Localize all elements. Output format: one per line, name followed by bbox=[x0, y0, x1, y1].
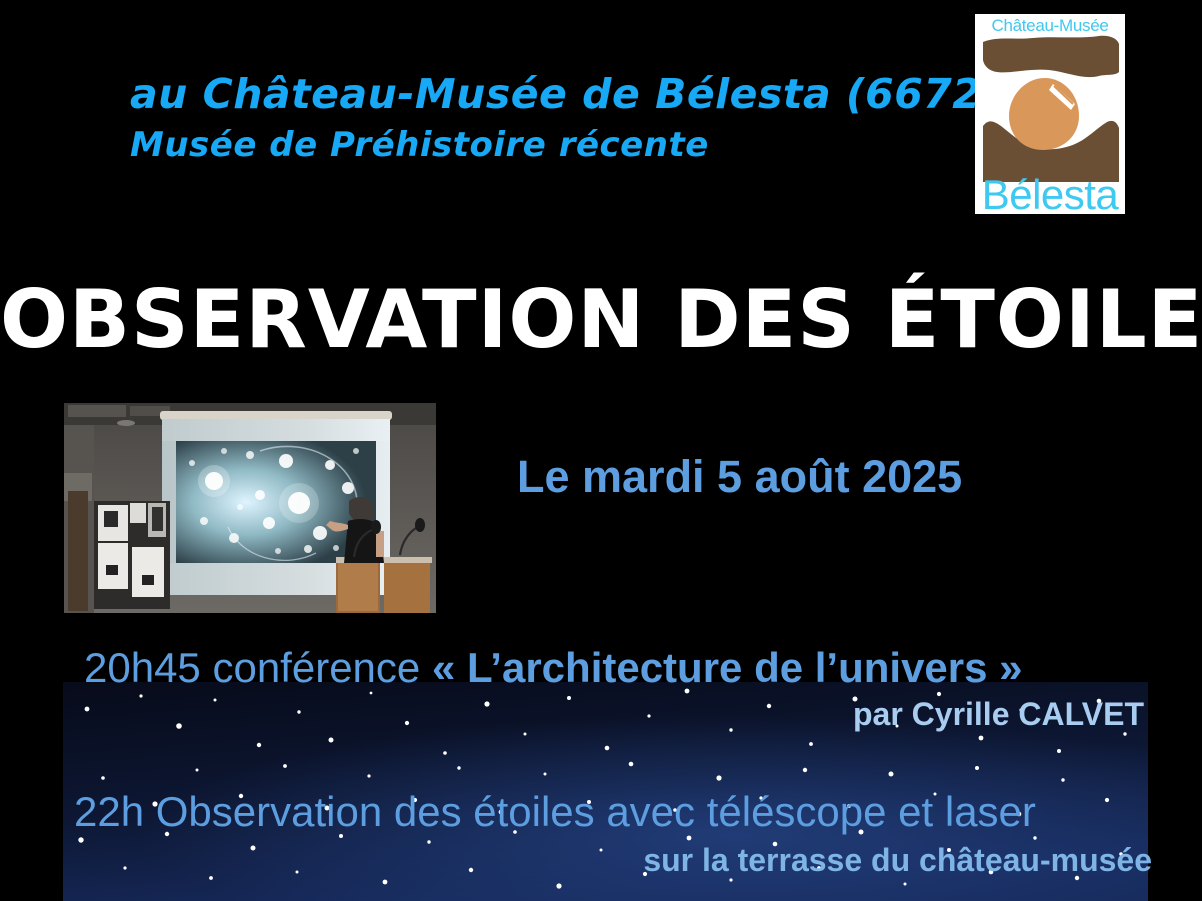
venue-line-1: au Château-Musée de Bélesta (66720) bbox=[130, 68, 950, 120]
prehistoric-pot-icon bbox=[1005, 76, 1085, 154]
venue-block: au Château-Musée de Bélesta (66720) Musé… bbox=[130, 68, 950, 170]
conference-photo-illustration bbox=[64, 403, 436, 613]
observation-line: 22h Observation des étoiles avec télésco… bbox=[74, 786, 1036, 838]
logo-top-label: Château-Musée bbox=[975, 16, 1125, 36]
logo-bottom-label: Bélesta bbox=[975, 172, 1125, 214]
conference-photo bbox=[64, 403, 436, 613]
conference-speaker: par Cyrille CALVET bbox=[853, 694, 1144, 734]
event-date: Le mardi 5 août 2025 bbox=[517, 449, 962, 505]
observation-location: sur la terrasse du château-musée bbox=[643, 840, 1152, 880]
museum-logo: Château-Musée Bélesta bbox=[975, 14, 1125, 214]
poster-root: au Château-Musée de Bélesta (66720) Musé… bbox=[0, 0, 1202, 901]
conference-title: « L’architecture de l’univers » bbox=[432, 644, 1023, 691]
venue-line-2: Musée de Préhistoire récente bbox=[130, 120, 950, 170]
poster-main-title: OBSERVATION DES ÉTOILES bbox=[0, 272, 1202, 368]
conference-line: 20h45 conférence « L’architecture de l’u… bbox=[84, 643, 1023, 693]
conference-time-label: 20h45 conférence bbox=[84, 644, 432, 691]
